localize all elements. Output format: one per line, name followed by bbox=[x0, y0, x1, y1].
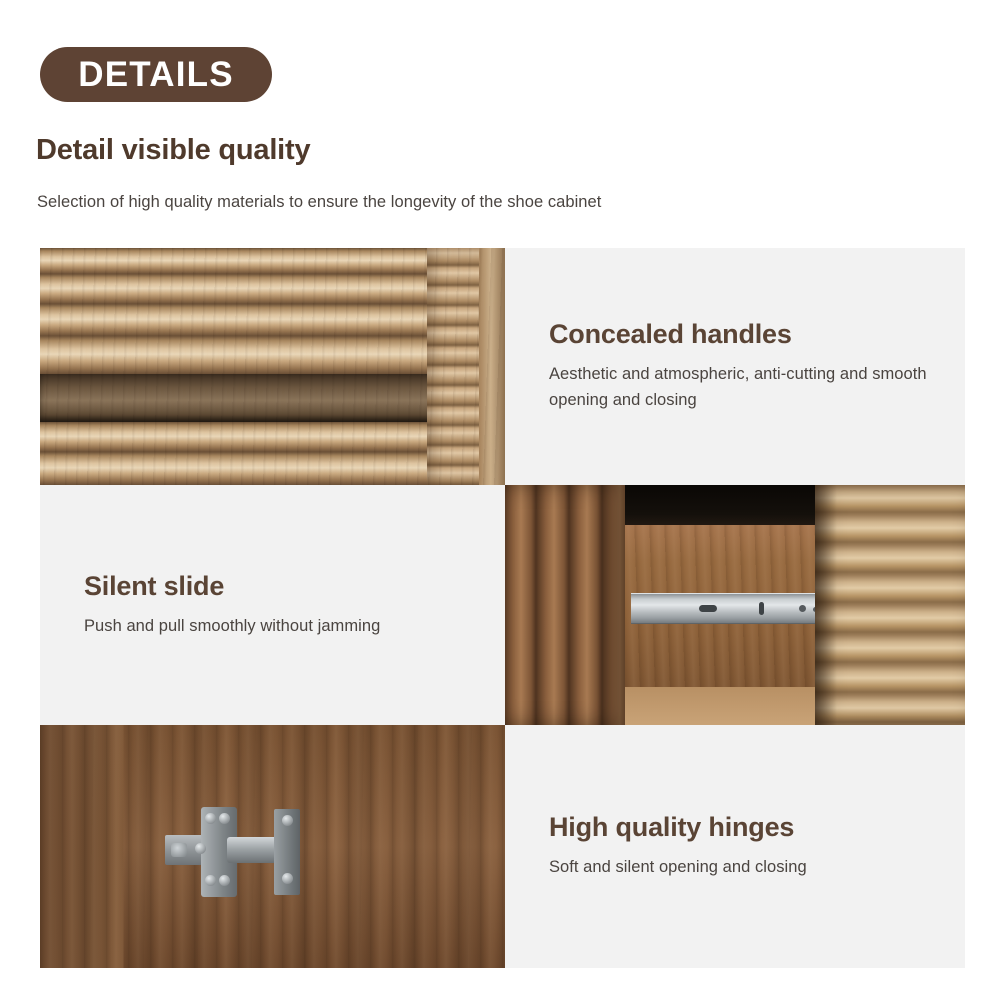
feature-title: High quality hinges bbox=[549, 812, 935, 843]
fluted-side-panel bbox=[815, 485, 965, 725]
ball-bearing-slide-rail bbox=[631, 593, 815, 624]
feature-description: Soft and silent opening and closing bbox=[549, 855, 935, 881]
feature-image-concealed-handles bbox=[40, 248, 505, 485]
wood-grain-overlay bbox=[40, 248, 505, 485]
feature-grid: Concealed handles Aesthetic and atmosphe… bbox=[40, 248, 965, 968]
feature-image-silent-slide bbox=[505, 485, 965, 725]
feature-description: Aesthetic and atmospheric, anti-cutting … bbox=[549, 362, 935, 413]
feature-description: Push and pull smoothly without jamming bbox=[84, 614, 474, 640]
vertical-fluted-door-edge bbox=[505, 485, 625, 725]
concealed-cup-hinge bbox=[165, 805, 300, 900]
page-title: Detail visible quality bbox=[36, 133, 310, 168]
feature-title: Silent slide bbox=[84, 571, 475, 602]
feature-title: Concealed handles bbox=[549, 319, 935, 350]
feature-text-concealed-handles: Concealed handles Aesthetic and atmosphe… bbox=[505, 248, 965, 485]
feature-text-high-quality-hinges: High quality hinges Soft and silent open… bbox=[505, 725, 965, 968]
details-badge: DETAILS bbox=[40, 47, 272, 102]
drawer-slide-image bbox=[505, 485, 965, 725]
feature-image-high-quality-hinges bbox=[40, 725, 505, 968]
hinge-on-walnut-door-image bbox=[40, 725, 505, 968]
cabinet-interior-shadow bbox=[625, 485, 815, 527]
details-badge-label: DETAILS bbox=[78, 57, 234, 92]
fluted-oak-panel-image bbox=[40, 248, 505, 485]
feature-text-silent-slide: Silent slide Push and pull smoothly with… bbox=[40, 485, 505, 725]
drawer-bottom-panel bbox=[625, 687, 815, 725]
page-subtitle: Selection of high quality materials to e… bbox=[37, 192, 601, 213]
details-page: DETAILS Detail visible quality Selection… bbox=[0, 0, 1000, 1000]
